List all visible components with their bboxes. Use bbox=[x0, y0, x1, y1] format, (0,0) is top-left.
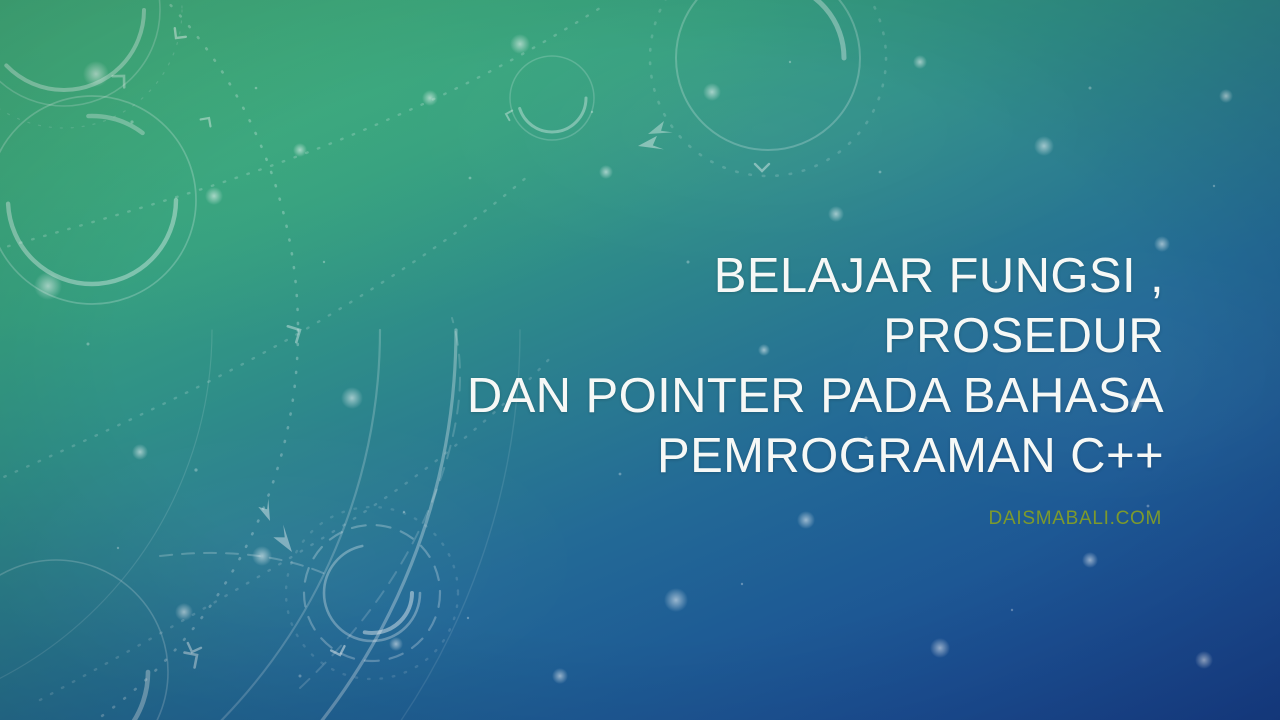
ring-cluster-top-right bbox=[638, 0, 886, 176]
title-slide: 140150160170180190200210220230240250260 bbox=[0, 0, 1280, 720]
dial-minor-ticks bbox=[0, 397, 247, 720]
arrow-marker bbox=[255, 496, 279, 521]
ring-cluster-bottom-center bbox=[255, 496, 458, 679]
dial-degree-labels: 140150160170180190200210220230240250260 bbox=[0, 434, 286, 720]
dashed-connector-short bbox=[160, 553, 330, 576]
chevron-marker-bottom-left bbox=[185, 648, 203, 668]
arrow-marker-top bbox=[648, 117, 675, 144]
page-title: BELAJAR FUNGSI , PROSEDUR DAN POINTER PA… bbox=[440, 246, 1164, 486]
chevron-marker-upper-left bbox=[113, 70, 130, 87]
chevron-marker-mid-left bbox=[288, 322, 304, 342]
dotted-ring bbox=[650, 0, 886, 176]
dashed-ring bbox=[304, 525, 440, 661]
dashed-connector-vertical bbox=[300, 318, 460, 688]
chevron-marker bbox=[201, 115, 214, 127]
arrow-marker-left bbox=[271, 523, 299, 552]
dotted-ring bbox=[286, 507, 458, 679]
dial-outer-arc bbox=[0, 0, 456, 720]
ring-cluster-mid-small bbox=[505, 56, 594, 140]
chevron-markers bbox=[113, 70, 305, 667]
chevron-marker bbox=[170, 28, 185, 42]
chevron-marker bbox=[331, 646, 346, 657]
chevron-marker bbox=[755, 164, 769, 171]
arrow-marker bbox=[638, 131, 668, 160]
dial-guide-ring bbox=[0, 0, 212, 720]
title-block: BELAJAR FUNGSI , PROSEDUR DAN POINTER PA… bbox=[440, 246, 1164, 530]
ring-cluster-bottom-left bbox=[0, 560, 201, 720]
ring-cluster-top-left bbox=[0, 0, 186, 128]
ring-cluster-left bbox=[0, 96, 214, 304]
dial-inner-arc bbox=[0, 0, 380, 720]
attribution-text: DAISMABALI.COM bbox=[440, 508, 1162, 530]
dial-dotted-ring bbox=[0, 0, 298, 720]
dotted-connector-upper bbox=[0, 8, 600, 260]
chevron-marker bbox=[505, 109, 513, 120]
chevron-marker bbox=[185, 643, 201, 654]
